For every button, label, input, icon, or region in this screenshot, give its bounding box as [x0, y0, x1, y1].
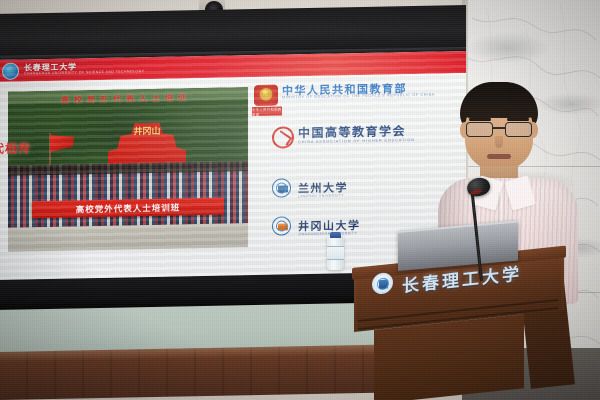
glasses-lens-left [466, 122, 493, 137]
photo-banner-text: 高校党外代表人士培训班 [76, 201, 181, 215]
bottle-cap [330, 232, 341, 238]
jinggangshan-university-seal-icon [272, 216, 291, 235]
monument-inscription: 井冈山 [130, 127, 164, 138]
eyeglasses-icon [463, 122, 535, 137]
projection-screen[interactable]: 长春理工大学 CHANGCHUN UNIVERSITY OF SCIENCE A… [0, 51, 466, 282]
bottle-label [327, 246, 344, 260]
group-photo: 高校党外代表人士培训 井冈山 高校党外代表人士培训班 [8, 87, 248, 252]
slide-header-title-en: CHANGCHUN UNIVERSITY OF SCIENCE AND TECH… [24, 70, 144, 76]
photo-left-red-text: 代相传 [0, 139, 31, 157]
lanzhou-university-name-en: LANZHOU UNIVERSITY [298, 193, 344, 198]
moe-badge: 中华人民共和国教育部 [252, 107, 282, 117]
seal-inner-mark [278, 223, 288, 230]
slide-body: 高校党外代表人士培训 井冈山 高校党外代表人士培训班 代相传 [0, 73, 466, 282]
seal-inner-mark [278, 185, 288, 192]
podium: 长春理工大学 [352, 268, 566, 400]
presenter-hair-front [462, 92, 536, 118]
presentation-slide: 长春理工大学 CHANGCHUN UNIVERSITY OF SCIENCE A… [0, 51, 466, 282]
presenter-eyebrow-left [469, 118, 491, 121]
laptop-icon[interactable] [398, 231, 518, 273]
presenter-nose [495, 136, 503, 148]
glasses-lens-right [505, 122, 532, 137]
lanzhou-university-seal-icon [272, 178, 291, 197]
university-seal-icon [2, 62, 19, 79]
presenter-mouth [487, 154, 511, 159]
glasses-bridge [493, 127, 505, 129]
cahe-name-en: CHINA ASSOCIATION OF HIGHER EDUCATION [298, 138, 415, 144]
projection-screen-assembly: 长春理工大学 CHANGCHUN UNIVERSITY OF SCIENCE A… [0, 5, 466, 306]
presenter-eyebrow-right [507, 118, 529, 121]
emblem-star-icon: ★ [261, 88, 269, 96]
lecture-hall-photo: 长春理工大学 CHANGCHUN UNIVERSITY OF SCIENCE A… [0, 0, 600, 400]
photo-ground [8, 223, 248, 252]
seal-inner-mark [379, 279, 388, 289]
